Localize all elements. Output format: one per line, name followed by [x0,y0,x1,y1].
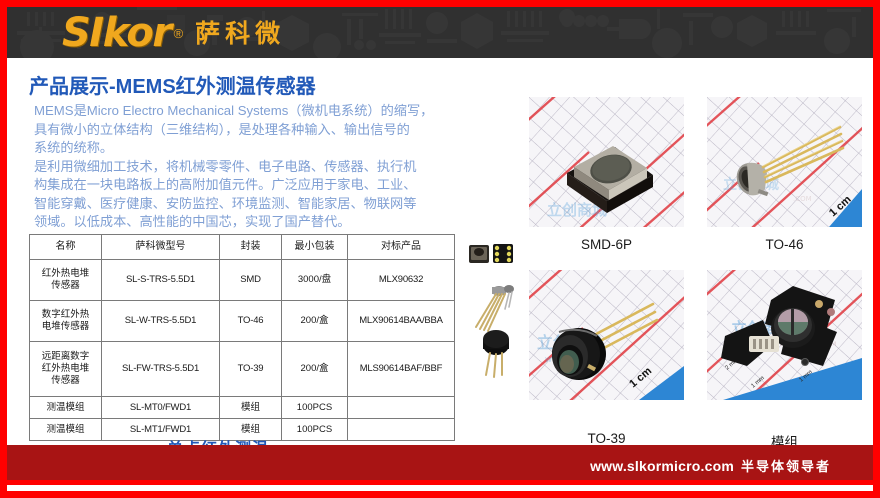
table-row: 测温模组SL-MT0/FWD1模组100PCS [30,397,455,419]
col-header-model: 萨科微型号 [102,235,220,260]
cell-min-pack: 200/盒 [282,342,348,397]
to-46-sensor-photo-icon: 立创商城 .COM 1 cm [707,97,862,227]
spec-table: 名称 萨科微型号 封装 最小包装 对标产品 红外热电堆传感器SL-S-TRS-5… [29,234,455,441]
logo-chinese-name: 萨科微 [195,21,285,46]
slide-root: SIkor ® 萨科微 产品展示-MEMS红外测温传感器 MEMS是Micro … [0,0,880,498]
cell-model: SL-W-TRS-5.5D1 [102,301,220,342]
photo-label-to-46: TO-46 [707,237,862,252]
col-header-name: 名称 [30,235,102,260]
cell-min-pack: 200/盒 [282,301,348,342]
cell-model: SL-S-TRS-5.5D1 [102,260,220,301]
cell-benchmark: MLS90614BAF/BBF [348,342,455,397]
svg-text:.COM: .COM [793,195,812,203]
col-header-package: 封装 [220,235,282,260]
table-header-row: 名称 萨科微型号 封装 最小包装 对标产品 [30,235,455,260]
cell-min-pack: 100PCS [282,419,348,441]
page-title: 产品展示-MEMS红外测温传感器 [29,70,316,99]
intro-line: 具有微小的立体结构（三维结构），是处理各种输入、输出信号的 [34,121,474,140]
intro-line: 构集成在一块电路板上的高附加值元件。广泛应用于家电、工业、 [34,176,474,195]
cell-name: 远距离数字红外热电堆传感器 [30,342,102,397]
component-parts-strip-icon [465,239,527,381]
photo-to-46: 立创商城 .COM 1 cm [707,97,862,227]
photo-module: 立创商城 WWW.SZLCSC.COM 2 mm 1 mm 1 mm 1 mm [707,270,862,400]
header-band: SIkor ® 萨科微 [7,7,873,58]
intro-line: 是利用微细加工技术，将机械零零件、电子电路、传感器、执行机 [34,158,474,177]
footer-bar: www.slkormicro.com半导体领导者 [7,445,873,485]
photo-label-smd-6p: SMD-6P [529,237,684,252]
cell-name: 红外热电堆传感器 [30,260,102,301]
cell-model: SL-MT0/FWD1 [102,397,220,419]
cell-package: TO-46 [220,301,282,342]
footer-content: www.slkormicro.com半导体领导者 [590,456,831,475]
to-39-sensor-photo-icon: 立创商城 WWW.SZLC 1 cm [529,270,684,400]
intro-paragraph: MEMS是Micro Electro Mechanical Systems（微机… [34,102,474,232]
intro-line: 系统的统称。 [34,139,474,158]
logo-wordmark: SIkor [62,13,171,53]
table-row: 数字红外热电堆传感器SL-W-TRS-5.5D1TO-46200/盒MLX906… [30,301,455,342]
cell-benchmark: MLX90632 [348,260,455,301]
table-row: 红外热电堆传感器SL-S-TRS-5.5D1SMD3000/盘MLX90632 [30,260,455,301]
cell-package: 模组 [220,397,282,419]
brand-logo: SIkor ® 萨科微 [62,9,285,57]
photo-to-39: 立创商城 WWW.SZLC 1 cm [529,270,684,400]
cell-min-pack: 3000/盘 [282,260,348,301]
table-row: 远距离数字红外热电堆传感器SL-FW-TRS-5.5D1TO-39200/盒ML… [30,342,455,397]
col-header-min-pack: 最小包装 [282,235,348,260]
table-body: 红外热电堆传感器SL-S-TRS-5.5D1SMD3000/盘MLX90632数… [30,260,455,441]
cell-benchmark: MLX90614BAA/BBA [348,301,455,342]
cell-min-pack: 100PCS [282,397,348,419]
intro-line: 领域。以低成本、高性能的中国芯，实现了国产替代。 [34,213,474,232]
cell-benchmark [348,397,455,419]
intro-line: MEMS是Micro Electro Mechanical Systems（微机… [34,102,474,121]
cell-name: 数字红外热电堆传感器 [30,301,102,342]
photo-smd-6p: 立创商城 [529,97,684,227]
footer-website[interactable]: www.slkormicro.com [590,458,734,474]
col-header-benchmark: 对标产品 [348,235,455,260]
cell-name: 测温模组 [30,419,102,441]
footer-slogan: 半导体领导者 [741,460,831,475]
intro-line: 智能穿戴、医疗健康、安防监控、环境监测、智能家居、物联网等 [34,195,474,214]
cell-name: 测温模组 [30,397,102,419]
photo-label-to-39: TO-39 [529,431,684,446]
cell-model: SL-FW-TRS-5.5D1 [102,342,220,397]
module-assembly-photo-icon: 立创商城 WWW.SZLCSC.COM 2 mm 1 mm 1 mm 1 mm [707,270,862,400]
cell-package: SMD [220,260,282,301]
cell-benchmark [348,419,455,441]
cell-package: TO-39 [220,342,282,397]
smd-6p-sensor-photo-icon: 立创商城 [529,97,684,227]
registered-trademark-icon: ® [174,26,184,41]
